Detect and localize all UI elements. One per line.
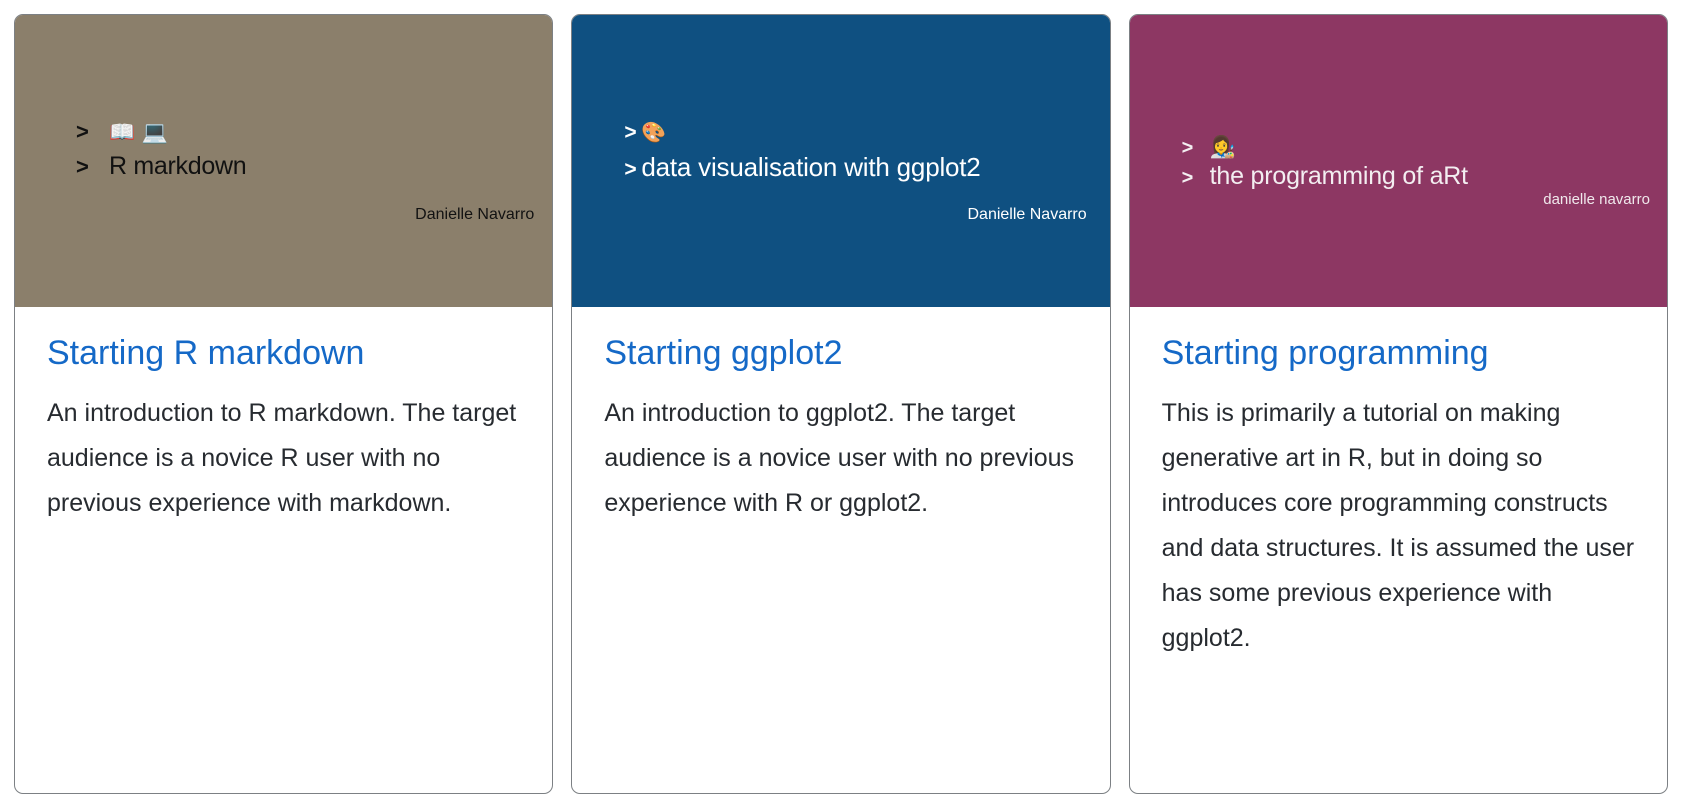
open-book-emoji: 📖 💻 <box>109 115 168 149</box>
slide-title-line: > R markdown <box>76 149 552 184</box>
artist-palette-emoji: 🎨 <box>641 115 666 149</box>
chevron-right-icon: > <box>624 153 641 187</box>
woman-artist-emoji: 👩‍🎨 <box>1210 133 1236 161</box>
slide-heading-block: > 📖 💻 > R markdown <box>76 115 552 184</box>
slide-heading-block: > 🎨 > data visualisation with ggplot2 <box>624 115 1109 187</box>
slide-author: Danielle Navarro <box>415 206 534 224</box>
card-grid: > 📖 💻 > R markdown Danielle Navarro Star… <box>0 0 1682 808</box>
card-title-link[interactable]: Starting ggplot2 <box>604 333 1077 373</box>
card-description: An introduction to R markdown. The targe… <box>47 391 520 526</box>
card-thumbnail[interactable]: > 🎨 > data visualisation with ggplot2 Da… <box>572 15 1109 307</box>
card-description: An introduction to ggplot2. The target a… <box>604 391 1077 526</box>
slide-emoji-line: > 📖 💻 <box>76 115 552 149</box>
slide-title: the programming of aRt <box>1210 162 1468 190</box>
card-body: Starting ggplot2 An introduction to ggpl… <box>572 307 1109 793</box>
chevron-right-icon: > <box>76 115 109 149</box>
slide-preview: > 📖 💻 > R markdown Danielle Navarro <box>15 15 552 307</box>
slide-emoji-line: > 👩‍🎨 <box>1182 133 1667 162</box>
slide-preview: > 🎨 > data visualisation with ggplot2 Da… <box>572 15 1109 307</box>
slide-title: data visualisation with ggplot2 <box>641 150 980 184</box>
course-card-programming[interactable]: > 👩‍🎨 > the programming of aRt danielle … <box>1129 14 1668 794</box>
chevron-right-icon: > <box>624 116 641 150</box>
course-card-r-markdown[interactable]: > 📖 💻 > R markdown Danielle Navarro Star… <box>14 14 553 794</box>
card-body: Starting R markdown An introduction to R… <box>15 307 552 793</box>
card-description: This is primarily a tutorial on making g… <box>1162 391 1635 661</box>
chevron-right-icon: > <box>1182 134 1210 162</box>
slide-title-line: > data visualisation with ggplot2 <box>624 150 1109 187</box>
chevron-right-icon: > <box>76 150 109 184</box>
slide-author: Danielle Navarro <box>967 206 1086 224</box>
card-thumbnail[interactable]: > 👩‍🎨 > the programming of aRt danielle … <box>1130 15 1667 307</box>
slide-title-line: > the programming of aRt <box>1182 162 1667 192</box>
card-title-link[interactable]: Starting programming <box>1162 333 1635 373</box>
course-card-ggplot2[interactable]: > 🎨 > data visualisation with ggplot2 Da… <box>571 14 1110 794</box>
chevron-right-icon: > <box>1182 164 1210 192</box>
slide-emoji-line: > 🎨 <box>624 115 1109 150</box>
slide-preview: > 👩‍🎨 > the programming of aRt danielle … <box>1130 15 1667 307</box>
slide-title: R markdown <box>109 149 246 183</box>
card-thumbnail[interactable]: > 📖 💻 > R markdown Danielle Navarro <box>15 15 552 307</box>
card-body: Starting programming This is primarily a… <box>1130 307 1667 793</box>
slide-heading-block: > 👩‍🎨 > the programming of aRt <box>1182 133 1667 192</box>
slide-author: danielle navarro <box>1543 191 1650 208</box>
page-root: > 📖 💻 > R markdown Danielle Navarro Star… <box>0 0 1682 808</box>
card-title-link[interactable]: Starting R markdown <box>47 333 520 373</box>
